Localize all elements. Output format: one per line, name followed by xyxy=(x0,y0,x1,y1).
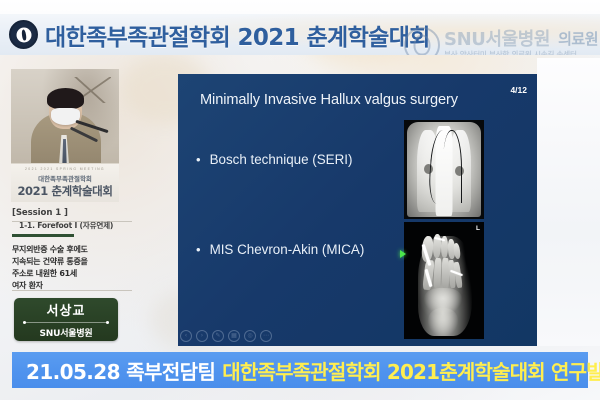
zoom-button[interactable]: ◎ xyxy=(244,330,256,342)
more-options-button[interactable]: ⋯ xyxy=(260,330,272,342)
podium-event-text: 2021 춘계학술대회 xyxy=(17,183,112,199)
video-frame: 대한족부족관절학회 2021 춘계학술대회 SNU서울병원 부산 양산터미 부산… xyxy=(0,0,600,400)
xray-hindfoot xyxy=(428,308,458,336)
speaker-chip-divider xyxy=(23,322,109,323)
slide-bullet: Bosch technique (SERI) xyxy=(196,152,352,167)
panel-divider xyxy=(12,290,132,291)
session-info-panel: 2021 2021 SPRING MEETING 대한족부족관절학회 2021 … xyxy=(0,58,172,346)
conference-header-banner: 대한족부족관절학회 2021 춘계학술대회 SNU서울병원 부산 양산터미 부산… xyxy=(0,14,600,55)
laser-pointer xyxy=(400,250,406,258)
bottom-caption-bar: 21.05.28 족부전담팀 대한족부족관절학회 2021춘계학술대회 연구발표 xyxy=(12,352,588,388)
xray-kwire-forefoot-ap xyxy=(404,120,484,219)
previous-slide-button[interactable]: ‹ xyxy=(180,330,192,342)
photo-podium-sign: 2021 2021 SPRING MEETING 대한족부족관절학회 2021 … xyxy=(11,163,119,202)
watermark-kr-text: 의료원 xyxy=(558,28,598,49)
all-slides-button[interactable]: ▦ xyxy=(228,330,240,342)
session-block: [Session 1 ] 1-1. Forefoot I (자유연제) xyxy=(12,208,132,237)
speaker-name-chip: 서상교 SNU서울병원 xyxy=(14,298,118,341)
header-title: 대한족부족관절학회 2021 춘계학술대회 xyxy=(45,18,430,52)
society-emblem-icon xyxy=(9,20,38,49)
pen-tool-button[interactable]: ✎ xyxy=(212,330,224,342)
abstract-text: 무지외반증 수술 후에도 지속되는 건약류 통증을 주소로 내원한 61세 여자… xyxy=(12,244,137,293)
next-slide-button[interactable]: › xyxy=(196,330,208,342)
photo-speaker-hair xyxy=(47,88,84,109)
speaker-name: 서상교 xyxy=(47,300,86,319)
slide-page-indicator: 4/12 xyxy=(510,85,527,95)
session-label: [Session 1 ] xyxy=(12,208,132,218)
slide-title: Minimally Invasive Hallux valgus surgery xyxy=(200,92,500,108)
podium-society-text: 대한족부족관절학회 xyxy=(38,173,92,183)
abstract-line: 지속되는 건약류 통증을 xyxy=(12,256,137,268)
xray-foot-with-screws-ap: L xyxy=(404,222,484,339)
caption-date-team: 21.05.28 족부전담팀 xyxy=(26,356,215,385)
laterality-marker: L xyxy=(476,225,480,232)
podium-small-text: 2021 2021 SPRING MEETING xyxy=(25,167,105,171)
slide-bullet: MIS Chevron-Akin (MICA) xyxy=(196,242,364,257)
right-gutter xyxy=(537,58,600,346)
presenter-controls-toolbar[interactable]: ‹ › ✎ ▦ ◎ ⋯ xyxy=(180,330,272,342)
session-underline xyxy=(12,234,74,237)
presenter-photo: 2021 2021 SPRING MEETING 대한족부족관절학회 2021 … xyxy=(11,69,119,202)
abstract-line: 주소로 내원한 61세 xyxy=(12,268,137,280)
kwire-icon xyxy=(443,130,462,203)
session-subtitle: 1-1. Forefoot I (자유연제) xyxy=(12,220,132,231)
caption-event-title: 대한족부족관절학회 2021춘계학술대회 연구발표 xyxy=(222,356,600,385)
presentation-slide[interactable]: Minimally Invasive Hallux valgus surgery… xyxy=(178,74,537,346)
top-strip xyxy=(0,0,600,14)
abstract-line: 무지외반증 수술 후에도 xyxy=(12,244,137,256)
speaker-organization: SNU서울병원 xyxy=(39,326,92,339)
